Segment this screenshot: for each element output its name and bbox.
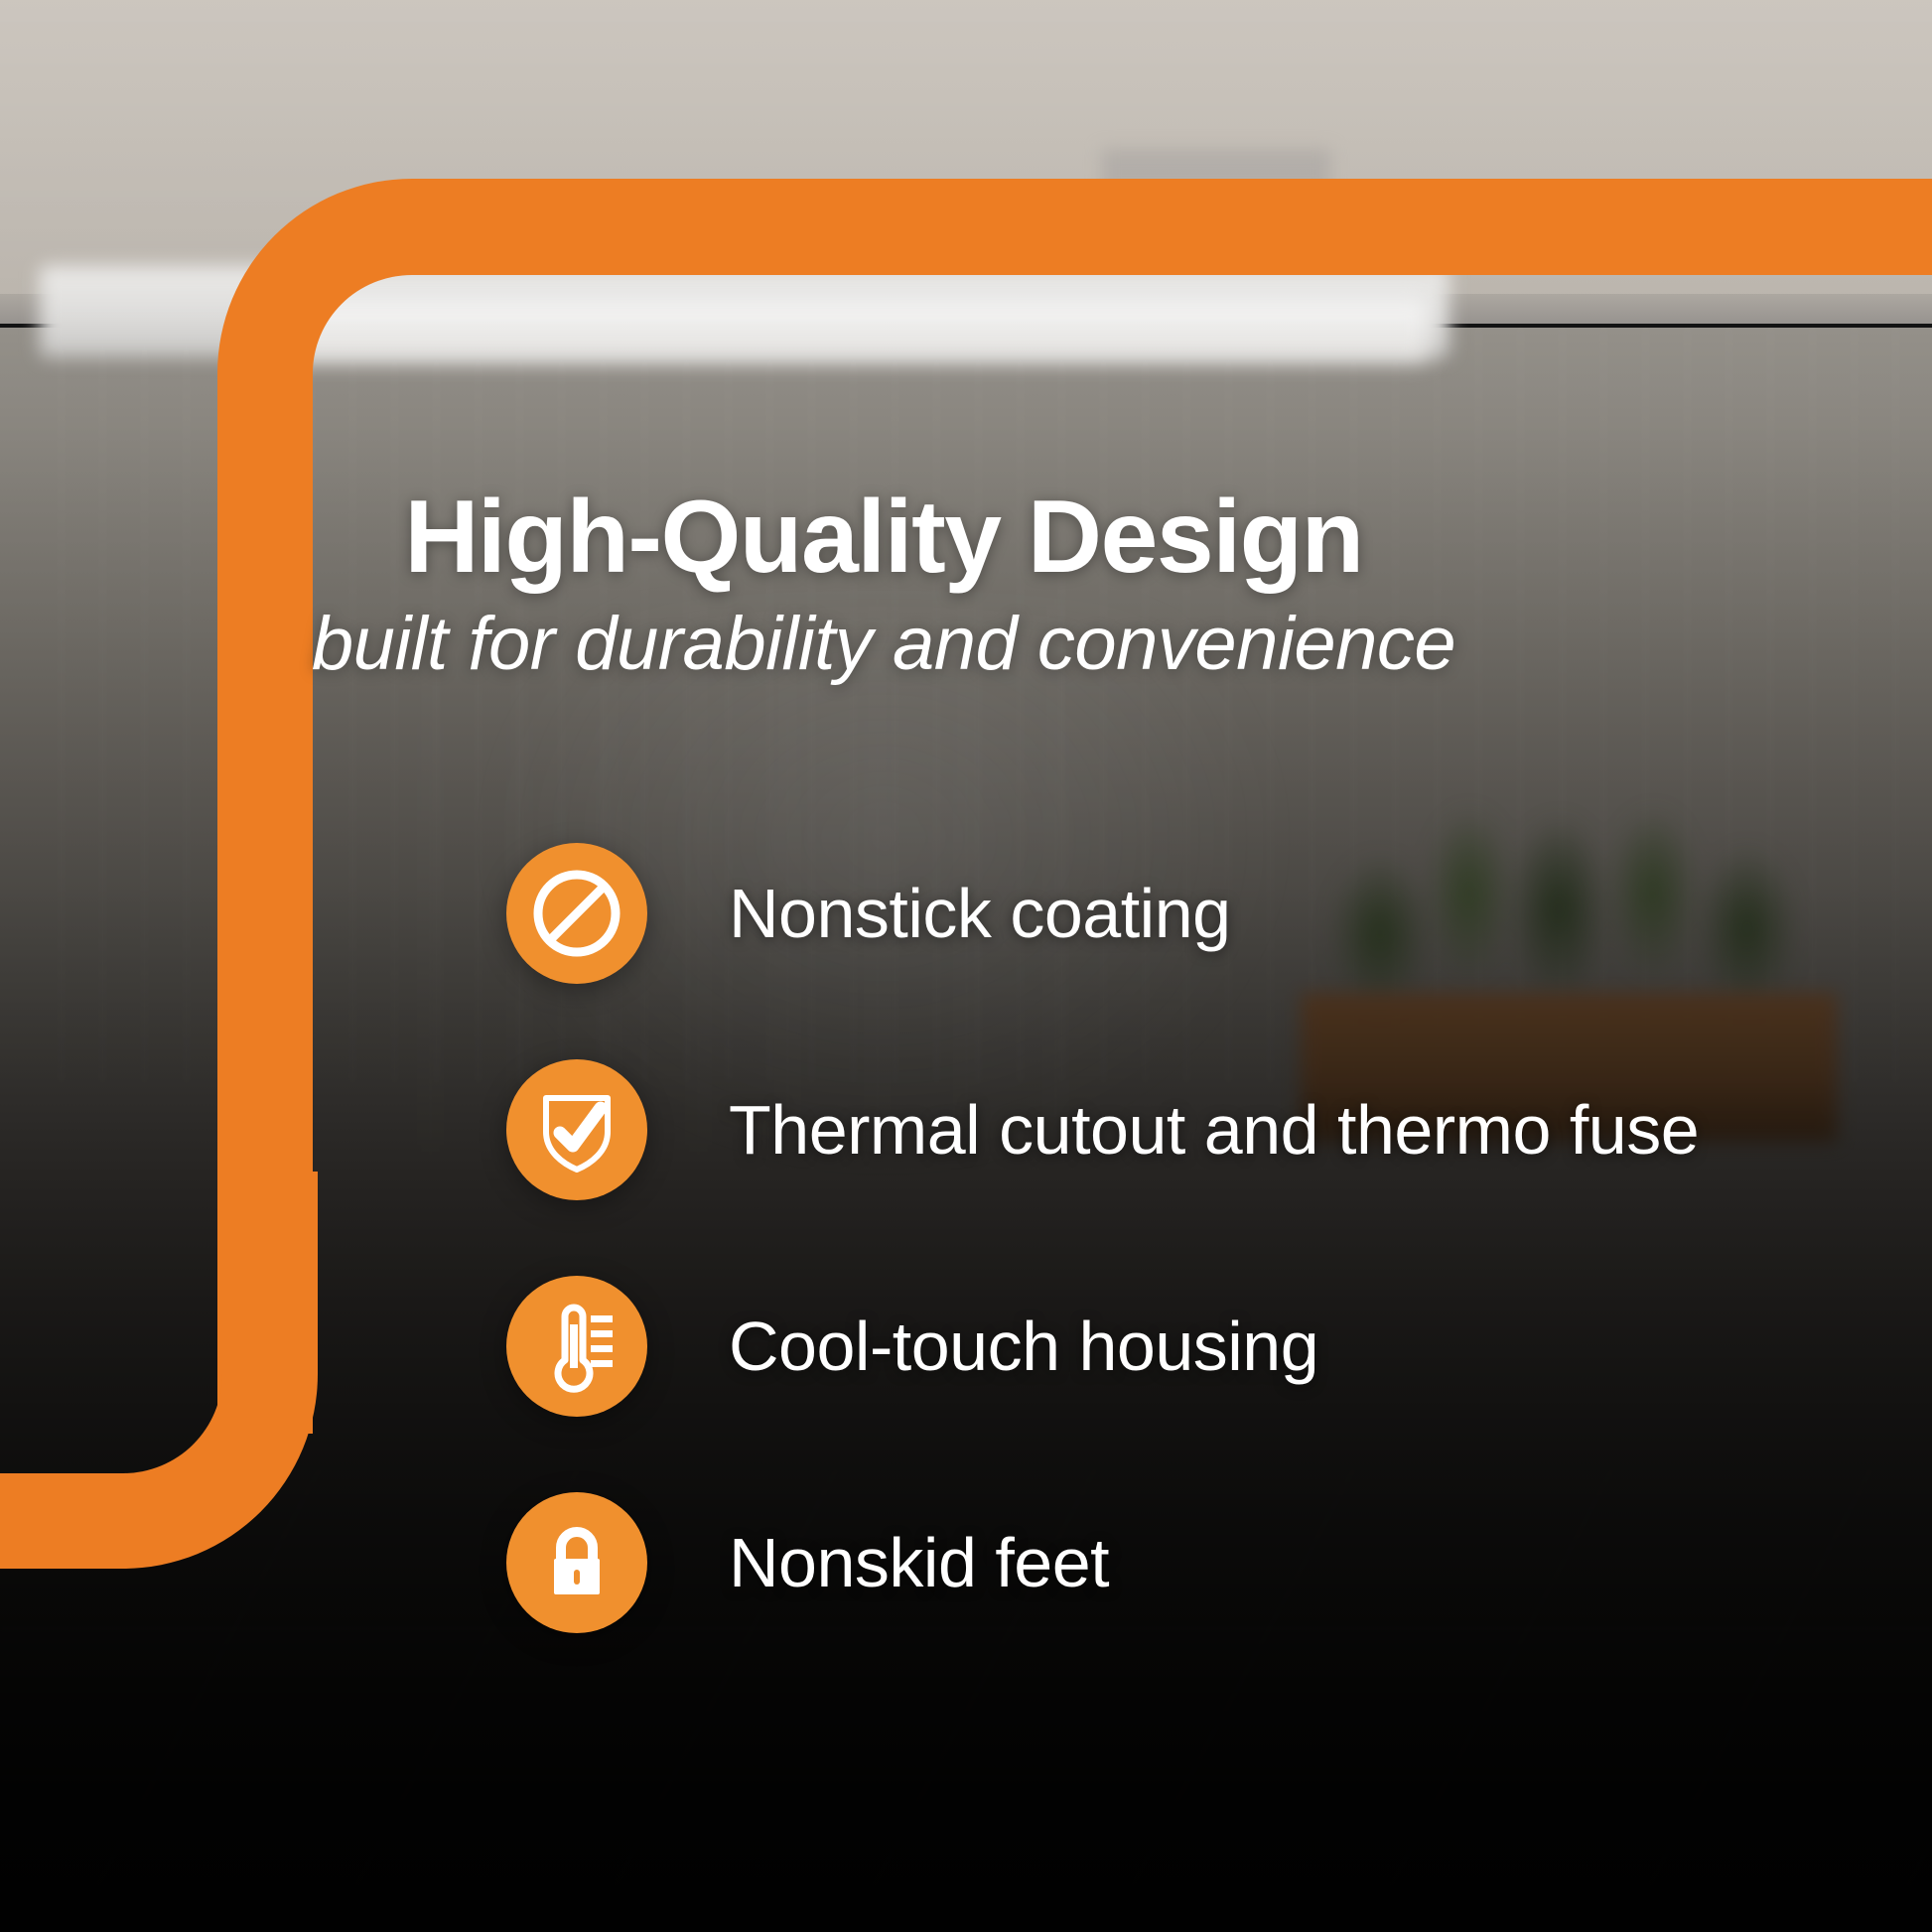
page-subtitle: built for durability and convenience bbox=[0, 602, 1767, 686]
page-title: High-Quality Design bbox=[0, 483, 1767, 592]
promo-graphic: High-Quality Design built for durability… bbox=[0, 0, 1932, 1932]
feature-item: Nonskid feet bbox=[506, 1488, 1876, 1637]
feature-label: Nonstick coating bbox=[729, 879, 1231, 948]
feature-item: Cool-touch housing bbox=[506, 1272, 1876, 1421]
feature-item: Thermal cutout and thermo fuse bbox=[506, 1055, 1876, 1204]
feature-label: Cool-touch housing bbox=[729, 1311, 1318, 1381]
feature-label: Nonskid feet bbox=[729, 1528, 1109, 1597]
feature-list: Nonstick coating Thermal cutout and ther… bbox=[506, 839, 1876, 1637]
shield-check-icon bbox=[506, 1059, 647, 1200]
lock-icon bbox=[506, 1492, 647, 1633]
feature-item: Nonstick coating bbox=[506, 839, 1876, 988]
feature-label: Thermal cutout and thermo fuse bbox=[729, 1095, 1699, 1165]
thermometer-icon bbox=[506, 1276, 647, 1417]
prohibition-icon bbox=[506, 843, 647, 984]
heading-block: High-Quality Design built for durability… bbox=[0, 483, 1767, 686]
